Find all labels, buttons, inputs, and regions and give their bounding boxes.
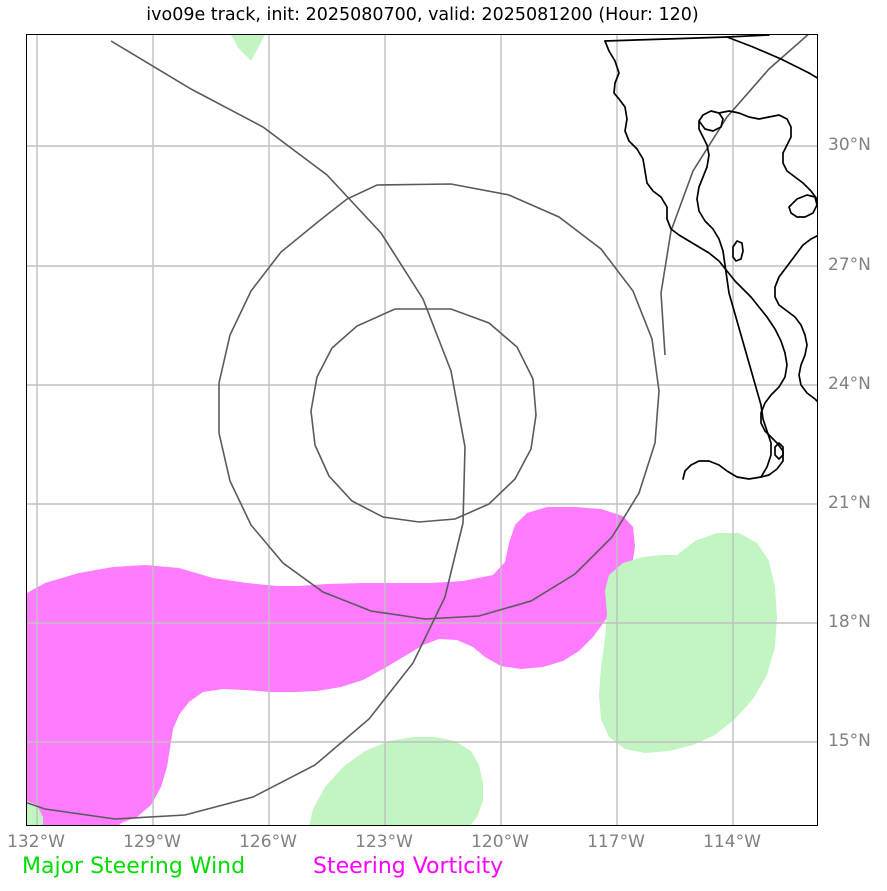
ytick-label-30n: 30°N: [828, 135, 871, 155]
coastline-baja-east: [697, 121, 771, 477]
radius-ring-outer-upper-right: [661, 35, 818, 355]
xtick-label-126w: 126°W: [239, 832, 297, 852]
xtick-label-129w: 129°W: [123, 832, 181, 852]
steering-vorticity-regions: [27, 507, 635, 825]
xtick-label-114w: 114°W: [703, 832, 761, 852]
wind-region-east: [599, 533, 777, 753]
figure: ivo09e track, init: 2025080700, valid: 2…: [0, 0, 887, 891]
legend-item-major-steering-wind: Major Steering Wind: [22, 854, 245, 879]
ytick-label-24n: 24°N: [828, 374, 871, 394]
plot-canvas: [27, 35, 818, 826]
radius-ring-inner: [311, 309, 536, 522]
coastline-gulf-island: [789, 195, 817, 217]
wind-region-north-sliver: [231, 35, 265, 61]
plot-area[interactable]: [26, 34, 818, 826]
xtick-label-117w: 117°W: [587, 832, 645, 852]
wind-region-south-central: [309, 737, 483, 826]
ytick-label-27n: 27°N: [828, 255, 871, 275]
coastline-pacific-island: [733, 241, 743, 261]
legend-item-steering-vorticity: Steering Vorticity: [313, 854, 503, 879]
page-title: ivo09e track, init: 2025080700, valid: 2…: [0, 5, 845, 25]
coastline-mainland-mexico-south: [775, 235, 818, 403]
ytick-label-15n: 15°N: [828, 731, 871, 751]
coastline: [605, 35, 818, 479]
xtick-label-132w: 132°W: [7, 832, 65, 852]
coastline-northern-border: [605, 35, 769, 41]
coastline-border-diagonal: [727, 37, 818, 79]
coastline-baja-west: [605, 41, 787, 477]
coastline-mainland-mexico: [719, 111, 818, 207]
xtick-label-120w: 120°W: [471, 832, 529, 852]
ytick-label-21n: 21°N: [828, 493, 871, 513]
ytick-label-18n: 18°N: [828, 612, 871, 632]
xtick-label-123w: 123°W: [355, 832, 413, 852]
coastline-baja-head: [699, 111, 723, 131]
coastline-baja-tip: [683, 461, 761, 479]
